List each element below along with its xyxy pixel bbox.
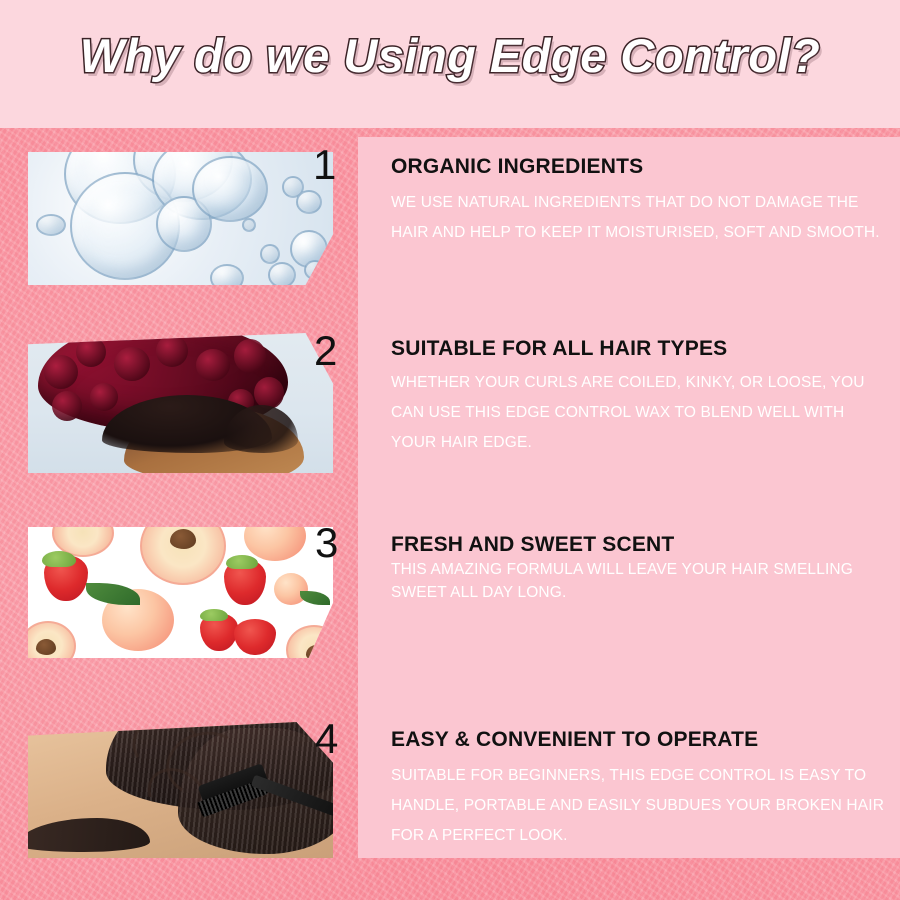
feature-block-3: FRESH AND SWEET SCENT THIS AMAZING FORMU… bbox=[391, 533, 891, 605]
step-number-2: 2 bbox=[314, 330, 337, 372]
feature-body-1: WE USE NATURAL INGREDIENTS THAT DO NOT D… bbox=[391, 188, 891, 248]
product-benefits-poster: Why do we Using Edge Control? bbox=[0, 0, 900, 900]
step-number-1: 1 bbox=[313, 144, 336, 186]
feature-heading-3: FRESH AND SWEET SCENT bbox=[391, 533, 891, 557]
feature-body-3: THIS AMAZING FORMULA WILL LEAVE YOUR HAI… bbox=[391, 559, 891, 605]
step-number-3: 3 bbox=[315, 522, 338, 564]
water-gel-bubbles-icon bbox=[28, 152, 333, 285]
feature-image-4 bbox=[28, 722, 333, 858]
burgundy-curly-hair-icon bbox=[28, 333, 333, 473]
feature-heading-1: ORGANIC INGREDIENTS bbox=[391, 155, 891, 179]
peach-strawberry-pattern-icon bbox=[28, 527, 333, 658]
feature-heading-2: SUITABLE FOR ALL HAIR TYPES bbox=[391, 337, 891, 361]
feature-block-2: SUITABLE FOR ALL HAIR TYPES WHETHER YOUR… bbox=[391, 337, 891, 459]
feature-body-2: WHETHER YOUR CURLS ARE COILED, KINKY, OR… bbox=[391, 368, 891, 459]
feature-heading-4: EASY & CONVENIENT TO OPERATE bbox=[391, 728, 891, 752]
laid-edges-with-brush-icon bbox=[28, 722, 333, 858]
page-title: Why do we Using Edge Control? bbox=[0, 28, 900, 83]
feature-block-1: ORGANIC INGREDIENTS WE USE NATURAL INGRE… bbox=[391, 155, 891, 248]
step-number-4: 4 bbox=[315, 718, 338, 760]
feature-block-4: EASY & CONVENIENT TO OPERATE SUITABLE FO… bbox=[391, 728, 891, 852]
feature-image-2 bbox=[28, 333, 333, 473]
feature-image-3 bbox=[28, 527, 333, 658]
feature-body-4: SUITABLE FOR BEGINNERS, THIS EDGE CONTRO… bbox=[391, 761, 891, 852]
feature-image-1 bbox=[28, 152, 333, 285]
